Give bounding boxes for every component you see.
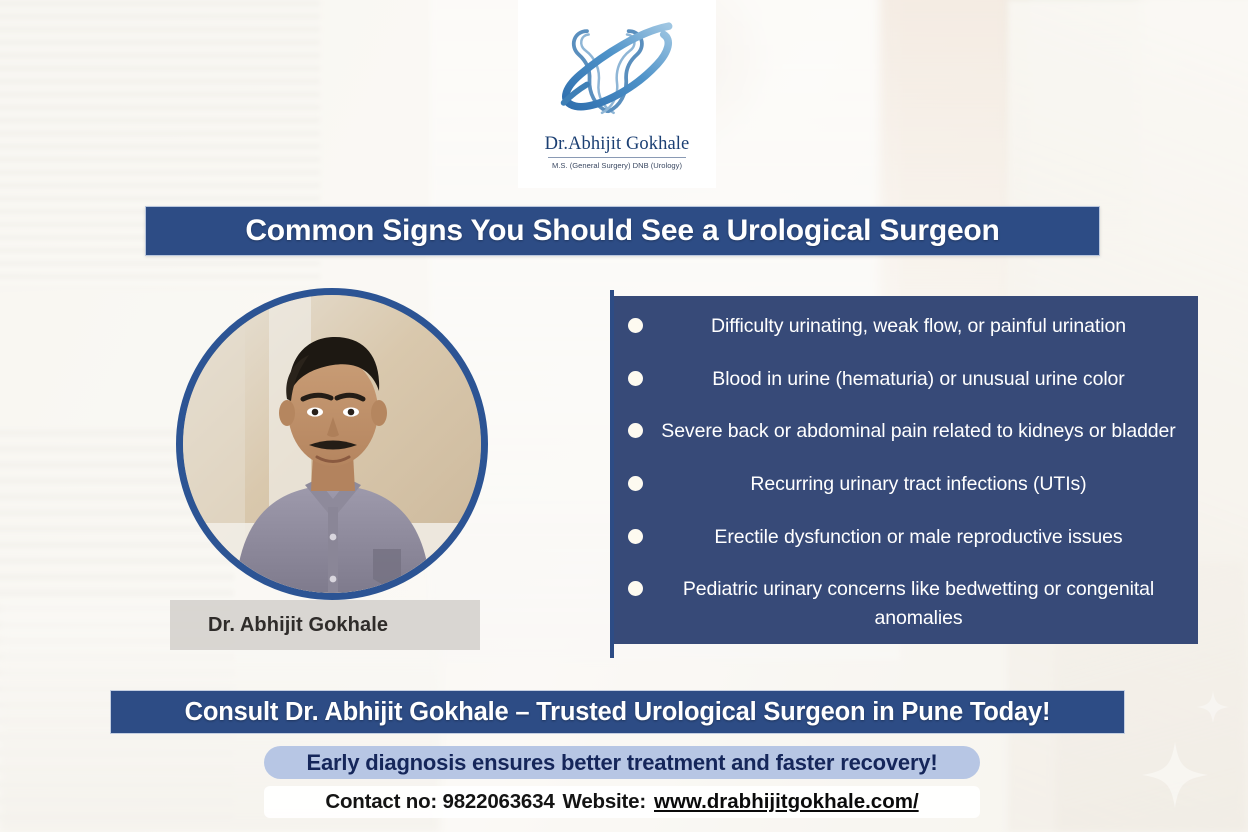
list-item: Severe back or abdominal pain related to… [628,415,1184,447]
bullet-dot-icon [628,423,643,438]
tagline-pill: Early diagnosis ensures better treatment… [264,746,980,779]
list-item: Recurring urinary tract infections (UTIs… [628,468,1184,500]
cta-banner-text: Consult Dr. Abhijit Gokhale – Trusted Ur… [185,698,1051,727]
list-item-label: Recurring urinary tract infections (UTIs… [653,470,1184,498]
headline-banner: Common Signs You Should See a Urological… [145,206,1100,256]
list-item: Erectile dysfunction or male reproductiv… [628,521,1184,553]
portrait-photo [183,295,481,593]
list-item-label: Erectile dysfunction or male reproductiv… [653,523,1184,551]
clinic-logo-card: Dr.Abhijit Gokhale M.S. (General Surgery… [518,0,716,188]
contact-number-label: Contact no: 9822063634 [325,790,554,814]
logo-qualifications: M.S. (General Surgery) DNB (Urology) [552,161,682,170]
list-item: Difficulty urinating, weak flow, or pain… [628,310,1184,342]
bullet-dot-icon [628,371,643,386]
website-link[interactable]: www.drabhijitgokhale.com/ [654,790,919,814]
portrait-caption-text: Dr. Abhijit Gokhale [208,614,388,637]
kidney-ribbon-logo-icon [542,8,692,136]
list-item-label: Difficulty urinating, weak flow, or pain… [653,312,1184,340]
bullet-dot-icon [628,529,643,544]
list-item-label: Pediatric urinary concerns like bedwetti… [653,575,1184,632]
headline-text: Common Signs You Should See a Urological… [245,214,999,248]
list-item: Blood in urine (hematuria) or unusual ur… [628,363,1184,395]
portrait-caption: Dr. Abhijit Gokhale [170,600,480,650]
doctor-portrait [176,288,488,600]
website-label: Website: [563,790,646,814]
list-item: Pediatric urinary concerns like bedwetti… [628,573,1184,634]
portrait-illustration [183,295,481,593]
sparkle-icon [1140,740,1210,810]
signs-panel: Difficulty urinating, weak flow, or pain… [614,296,1198,644]
bullet-dot-icon [628,318,643,333]
bullet-dot-icon [628,581,643,596]
contact-bar: Contact no: 9822063634 Website: www.drab… [264,786,980,818]
list-item-label: Blood in urine (hematuria) or unusual ur… [653,365,1184,393]
logo-doctor-name: Dr.Abhijit Gokhale [545,134,690,155]
poster-root: Dr.Abhijit Gokhale M.S. (General Surgery… [0,0,1248,832]
list-item-label: Severe back or abdominal pain related to… [653,417,1184,445]
logo-divider [548,157,686,158]
sparkle-small-icon [1196,690,1230,724]
portrait-ring [176,288,488,600]
bullet-dot-icon [628,476,643,491]
cta-banner[interactable]: Consult Dr. Abhijit Gokhale – Trusted Ur… [110,690,1125,734]
tagline-text: Early diagnosis ensures better treatment… [307,750,938,776]
